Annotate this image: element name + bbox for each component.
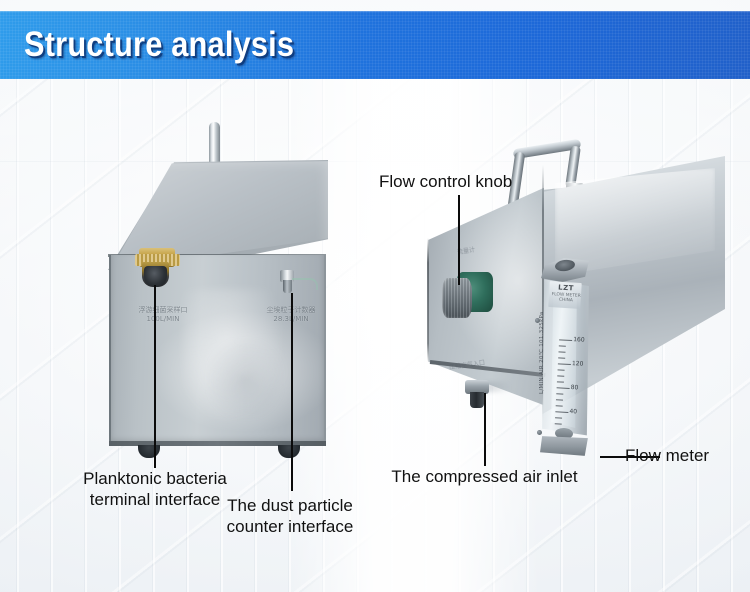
- flow-meter-screw-top: [535, 318, 540, 323]
- scale-tick-minor: [556, 405, 563, 406]
- scale-tick-minor: [558, 369, 565, 370]
- brass-port-opening: [144, 266, 167, 287]
- compressed-air-inlet-nose: [470, 392, 484, 408]
- sampler-unit-front: 浮游细菌采样口 100L/MIN 尘埃粒子计数器 28.3L/MIN: [108, 160, 328, 460]
- scale-tick-major: [558, 363, 571, 365]
- chrome-port-hose: [292, 278, 318, 290]
- scale-tick-major: [559, 339, 572, 341]
- unit-foot-right: [278, 445, 300, 458]
- scale-number-160: 160: [573, 337, 585, 344]
- leader-planktonic-bacteria: [154, 285, 156, 468]
- unit-foot-left: [138, 445, 160, 458]
- flow-meter-bottom-cap: [539, 434, 591, 460]
- flow-meter-vertical-text: L/MIN AIR 20℃ 101.325kPa: [539, 311, 545, 394]
- flow-meter[interactable]: LZT FLOW METER CHINA 160 120 80: [533, 258, 599, 458]
- scale-tick-minor: [556, 393, 563, 394]
- scale-tick-minor: [557, 375, 564, 376]
- panel-label-planktonic: 浮游细菌采样口 100L/MIN: [120, 306, 206, 324]
- scale-tick-minor: [559, 345, 566, 346]
- scale-number-120: 120: [572, 361, 584, 368]
- scale-tick-minor: [557, 381, 564, 382]
- scale-tick-minor: [556, 399, 563, 400]
- scale-tick-minor: [555, 423, 562, 424]
- callout-flow-meter: Flow meter: [625, 445, 709, 466]
- flow-meter-screw-bottom: [537, 430, 542, 435]
- scale-tick-minor: [555, 417, 562, 418]
- leader-flow-control-knob: [458, 195, 460, 285]
- leader-dust-particle-counter: [291, 293, 293, 491]
- flow-meter-scale: 160 120 80 40: [555, 335, 586, 426]
- callout-dust-particle-counter: The dust particle counter interface: [190, 495, 390, 537]
- scale-tick-major: [557, 387, 570, 389]
- callout-flow-control-knob: Flow control knob: [379, 171, 512, 192]
- flow-meter-brand-sub: FLOW METER CHINA: [549, 292, 584, 304]
- scale-tick-minor: [558, 351, 565, 352]
- structure-analysis-slide: Structure analysis HDZ: [0, 0, 750, 592]
- panel-label-planktonic-line1: 浮游细菌采样口: [120, 306, 206, 315]
- scale-tick-major: [555, 411, 568, 413]
- leader-compressed-air-inlet: [484, 393, 486, 466]
- sampler-unit-angled: 流量计 压缩空气入口 LZT FLOW METER CHINA: [425, 150, 725, 470]
- unit2-left-edge: [427, 238, 429, 362]
- flow-control-knob[interactable]: [442, 278, 472, 318]
- callout-compressed-air-inlet: The compressed air inlet: [357, 466, 612, 487]
- front-face-smudge: [209, 341, 281, 416]
- scale-tick-minor: [558, 357, 565, 358]
- chrome-port-nose: [283, 280, 292, 293]
- scale-number-40: 40: [569, 409, 577, 415]
- scale-number-80: 80: [570, 385, 578, 391]
- panel-label-planktonic-line2: 100L/MIN: [120, 315, 206, 324]
